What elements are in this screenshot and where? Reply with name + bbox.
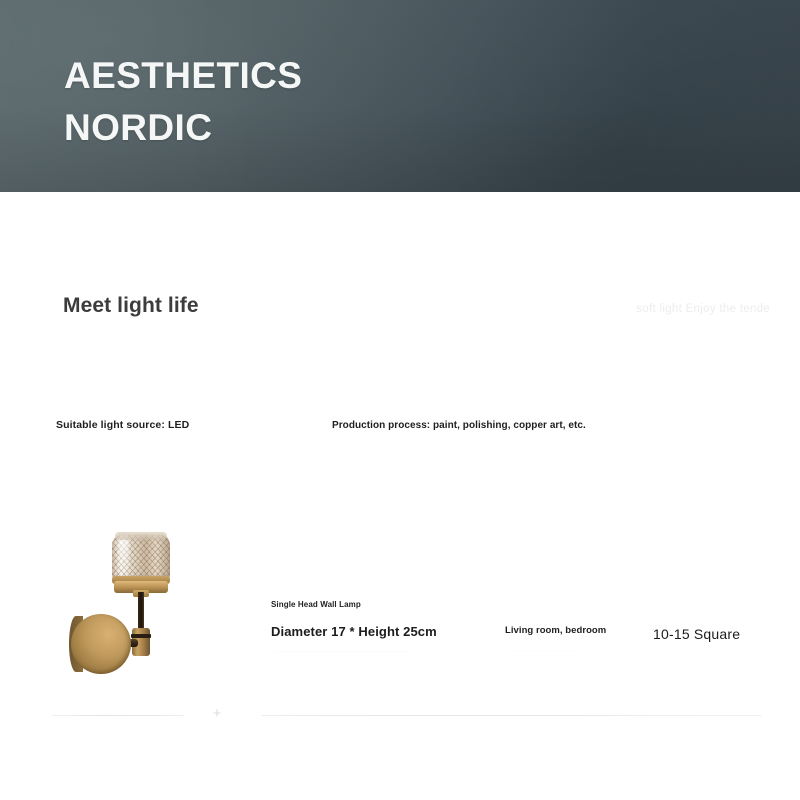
hero-title-line-1: AESTHETICS (64, 50, 302, 102)
hero-title-block: AESTHETICS NORDIC (64, 50, 302, 154)
spec-light-source: Suitable light source: LED (56, 419, 189, 431)
socket-band (131, 634, 151, 638)
wall-lamp-illustration (52, 528, 232, 708)
glass-shade (112, 534, 170, 580)
spec-coverage-area: 10-15 Square (653, 626, 740, 642)
section-tagline: soft light Enjoy the tende (636, 303, 770, 315)
shade-top-cap (115, 532, 167, 540)
spec-dimension-underline (273, 651, 411, 652)
divider-left (52, 715, 184, 716)
shade-highlight (118, 536, 129, 578)
divider-right (262, 715, 762, 716)
hero-title-line-2: NORDIC (64, 102, 302, 154)
hero-banner: AESTHETICS NORDIC (0, 0, 800, 192)
wall-backplate (71, 614, 131, 674)
spec-dimension: Diameter 17 * Height 25cm (271, 624, 437, 639)
plus-icon: + (209, 706, 225, 722)
spec-production-process: Production process: paint, polishing, co… (332, 420, 586, 431)
spec-product-name: Single Head Wall Lamp (271, 600, 361, 609)
spec-room: Living room, bedroom (505, 625, 606, 636)
section-heading: Meet light life (63, 294, 199, 318)
spec-room-underline (507, 650, 579, 651)
product-image (52, 528, 232, 708)
